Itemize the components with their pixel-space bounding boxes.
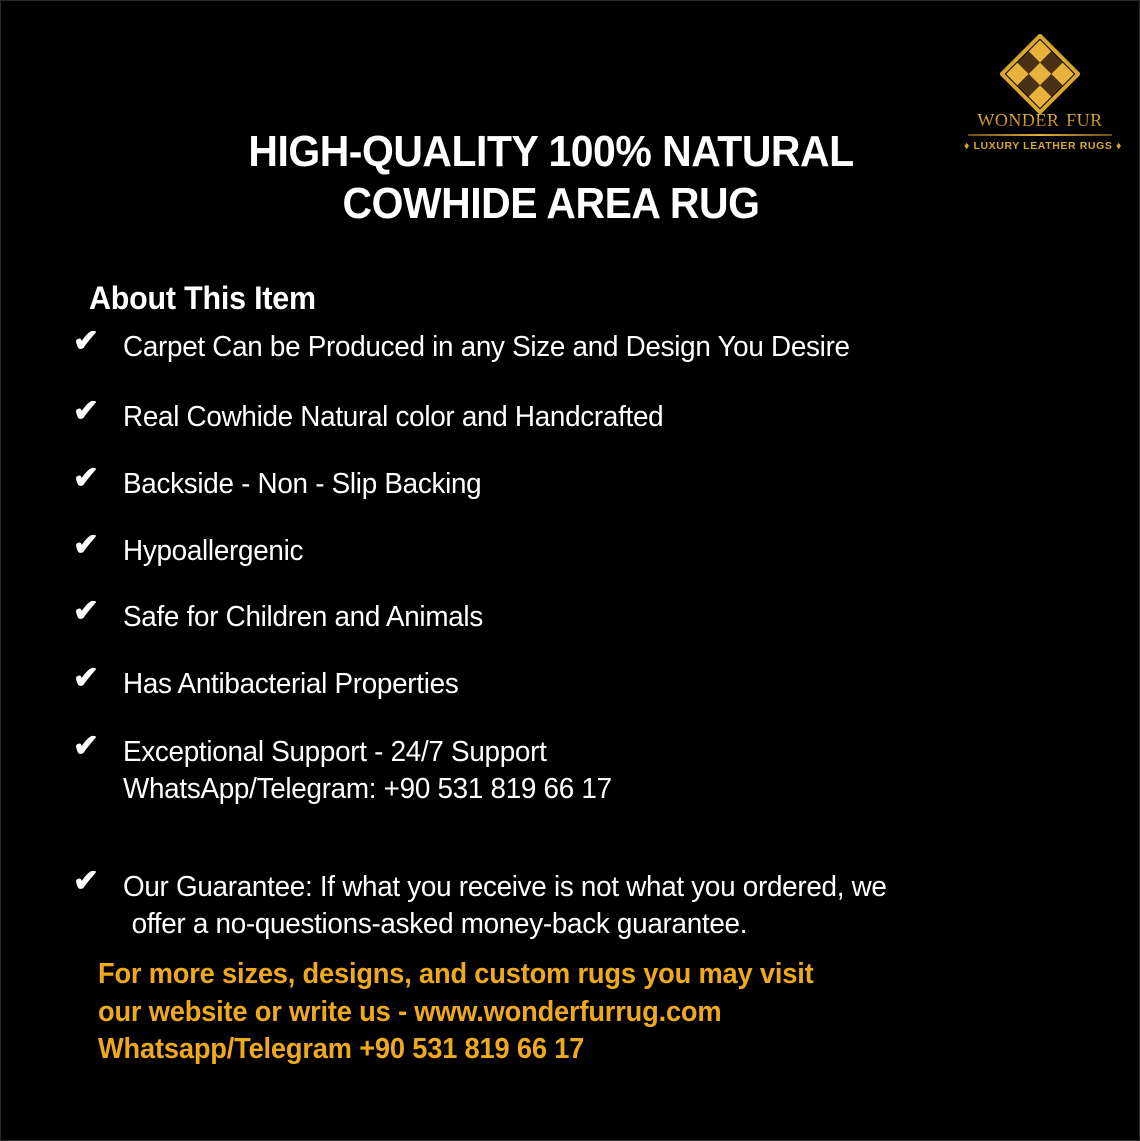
list-item: ✔ Backside - Non - Slip Backing (71, 466, 1081, 503)
feature-list: ✔ Carpet Can be Produced in any Size and… (71, 329, 1081, 943)
list-item-label: Backside - Non - Slip Backing (123, 466, 1043, 503)
page-title: HIGH-QUALITY 100% NATURAL COWHIDE AREA R… (179, 126, 923, 230)
brand-wordmark: Wonder Fur (964, 106, 1116, 131)
footer-line-1: For more sizes, designs, and custom rugs… (98, 956, 813, 994)
support-contact-label: WhatsApp/Telegram: +90 531 819 66 17 (123, 771, 1043, 808)
list-item-label: Has Antibacterial Properties (123, 666, 1043, 703)
logo-divider (968, 134, 1112, 136)
checkmark-icon: ✔ (73, 595, 99, 626)
checkmark-icon: ✔ (73, 662, 99, 693)
checkmark-icon: ✔ (73, 529, 99, 560)
section-heading-about: About This Item (89, 280, 316, 317)
list-item-label: Exceptional Support - 24/7 Support (123, 734, 1043, 771)
list-item-guarantee: ✔ Our Guarantee: If what you receive is … (71, 869, 1081, 943)
checkmark-icon: ✔ (73, 462, 99, 493)
checkmark-icon: ✔ (73, 730, 99, 761)
list-item: ✔ Has Antibacterial Properties (71, 666, 1081, 703)
title-line-1: HIGH-QUALITY 100% NATURAL (179, 126, 923, 178)
checkmark-icon: ✔ (73, 865, 99, 896)
list-item-label: Hypoallergenic (123, 533, 1043, 570)
list-item-label: Carpet Can be Produced in any Size and D… (123, 329, 1043, 366)
footer-line-3-whatsapp[interactable]: Whatsapp/Telegram +90 531 819 66 17 (98, 1031, 813, 1069)
brand-tagline: ♦ LUXURY LEATHER RUGS ♦ (964, 140, 1116, 154)
checkmark-icon: ✔ (73, 325, 99, 356)
footer-line-2-website[interactable]: our website or write us - www.wonderfurr… (98, 994, 813, 1032)
checkmark-icon: ✔ (73, 395, 99, 426)
list-item-support: ✔ Exceptional Support - 24/7 Support Wha… (71, 734, 1081, 808)
list-item: ✔ Carpet Can be Produced in any Size and… (71, 329, 1081, 366)
brand-logo: Wonder Fur ♦ LUXURY LEATHER RUGS ♦ (964, 34, 1116, 162)
list-item: ✔ Safe for Children and Animals (71, 599, 1081, 636)
product-info-poster: Wonder Fur ♦ LUXURY LEATHER RUGS ♦ HIGH-… (0, 0, 1140, 1141)
guarantee-line-1: Our Guarantee: If what you receive is no… (123, 869, 1043, 906)
list-item: ✔ Real Cowhide Natural color and Handcra… (71, 399, 1081, 436)
list-item-label: Real Cowhide Natural color and Handcraft… (123, 399, 1043, 436)
list-item-label: Safe for Children and Animals (123, 599, 1043, 636)
title-line-2: COWHIDE AREA RUG (179, 178, 923, 230)
diamond-checkerboard-logo-icon (1000, 34, 1080, 114)
list-item: ✔ Hypoallergenic (71, 533, 1081, 570)
footer-contact-block: For more sizes, designs, and custom rugs… (98, 956, 859, 1069)
guarantee-line-2: offer a no-questions-asked money-back gu… (123, 906, 1043, 943)
